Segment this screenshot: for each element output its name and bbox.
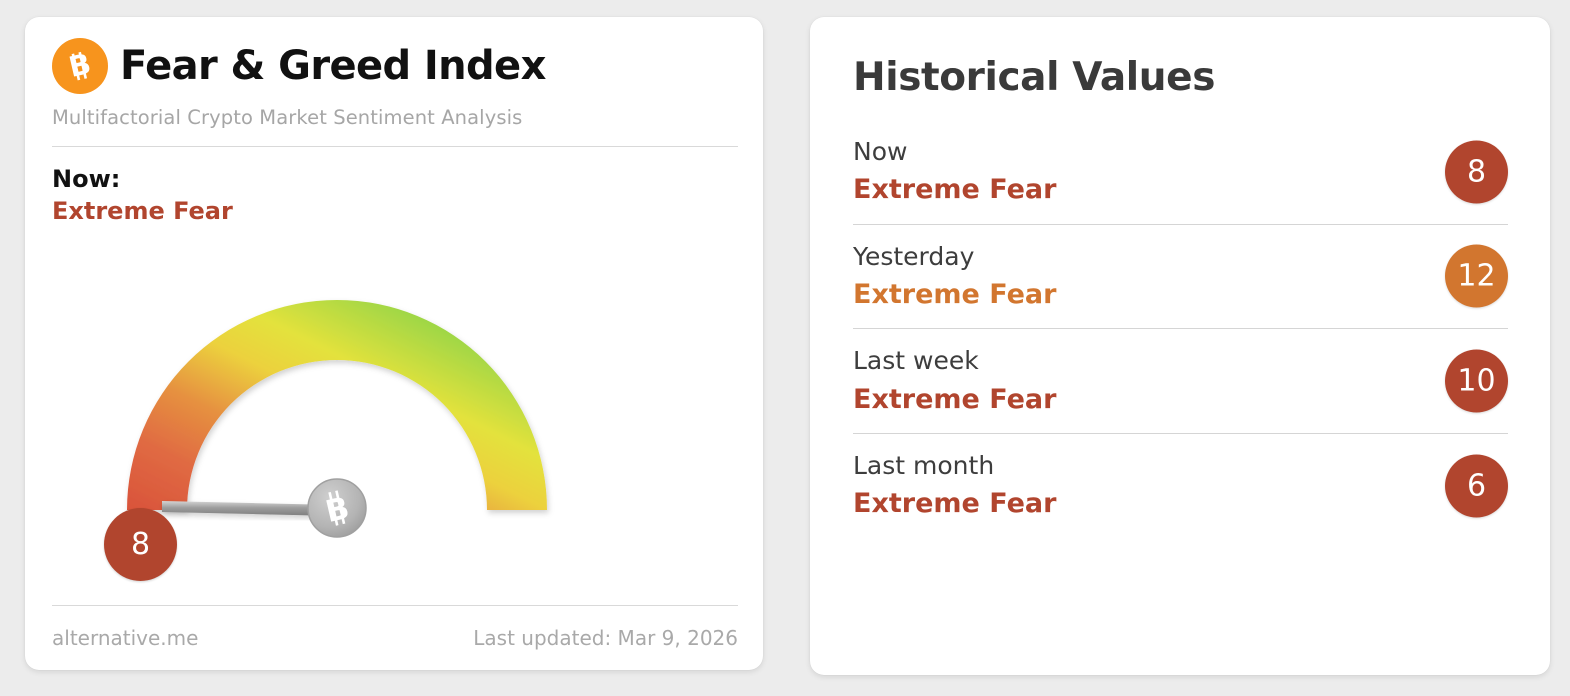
bitcoin-icon: B	[52, 38, 108, 94]
history-row-value: 6	[1467, 468, 1486, 503]
page-title: Fear & Greed Index	[120, 46, 546, 86]
gauge-card-content: B Fear & Greed Index Multifactorial Cryp…	[52, 35, 738, 656]
fear-greed-gauge-card: B Fear & Greed Index Multifactorial Cryp…	[25, 17, 763, 670]
app-root: B Fear & Greed Index Multifactorial Cryp…	[0, 0, 1570, 696]
gauge-needle-hub: B	[308, 479, 366, 537]
gauge-card-footer: alternative.me Last updated: Mar 9, 2026	[52, 626, 738, 650]
history-row-classification: Extreme Fear	[853, 279, 1508, 311]
footer-divider	[52, 605, 738, 606]
historical-values-content: Historical Values Now Extreme Fear 8 Yes…	[853, 55, 1508, 655]
last-updated-text: Last updated: Mar 9, 2026	[473, 626, 738, 650]
historical-values-title: Historical Values	[853, 55, 1508, 100]
history-row-now[interactable]: Now Extreme Fear 8	[853, 120, 1508, 225]
history-row-last-month[interactable]: Last month Extreme Fear 6	[853, 434, 1508, 538]
historical-values-card: Historical Values Now Extreme Fear 8 Yes…	[810, 17, 1550, 675]
history-row-badge: 10	[1445, 350, 1508, 413]
header-divider	[52, 146, 738, 147]
history-row-value: 12	[1457, 259, 1495, 294]
page-subtitle: Multifactorial Crypto Market Sentiment A…	[52, 106, 738, 129]
history-row-yesterday[interactable]: Yesterday Extreme Fear 12	[853, 225, 1508, 330]
history-row-badge: 6	[1445, 454, 1508, 517]
gauge-value-text: 8	[131, 527, 150, 562]
history-row-classification: Extreme Fear	[853, 174, 1508, 206]
brand-header: B Fear & Greed Index	[52, 35, 738, 97]
source-link[interactable]: alternative.me	[52, 626, 198, 650]
gauge-arc-svg: B	[52, 185, 742, 545]
history-row-when: Now	[853, 136, 1508, 167]
history-row-when: Yesterday	[853, 241, 1508, 272]
history-row-last-week[interactable]: Last week Extreme Fear 10	[853, 329, 1508, 434]
history-row-value: 10	[1457, 364, 1495, 399]
gauge-value-badge: 8	[104, 508, 177, 581]
gauge-visualization: B 8	[52, 185, 738, 545]
history-row-classification: Extreme Fear	[853, 488, 1508, 520]
history-row-classification: Extreme Fear	[853, 384, 1508, 416]
history-row-badge: 8	[1445, 140, 1508, 203]
history-row-when: Last month	[853, 450, 1508, 481]
history-row-value: 8	[1467, 154, 1486, 189]
history-row-when: Last week	[853, 345, 1508, 376]
history-row-badge: 12	[1445, 245, 1508, 308]
